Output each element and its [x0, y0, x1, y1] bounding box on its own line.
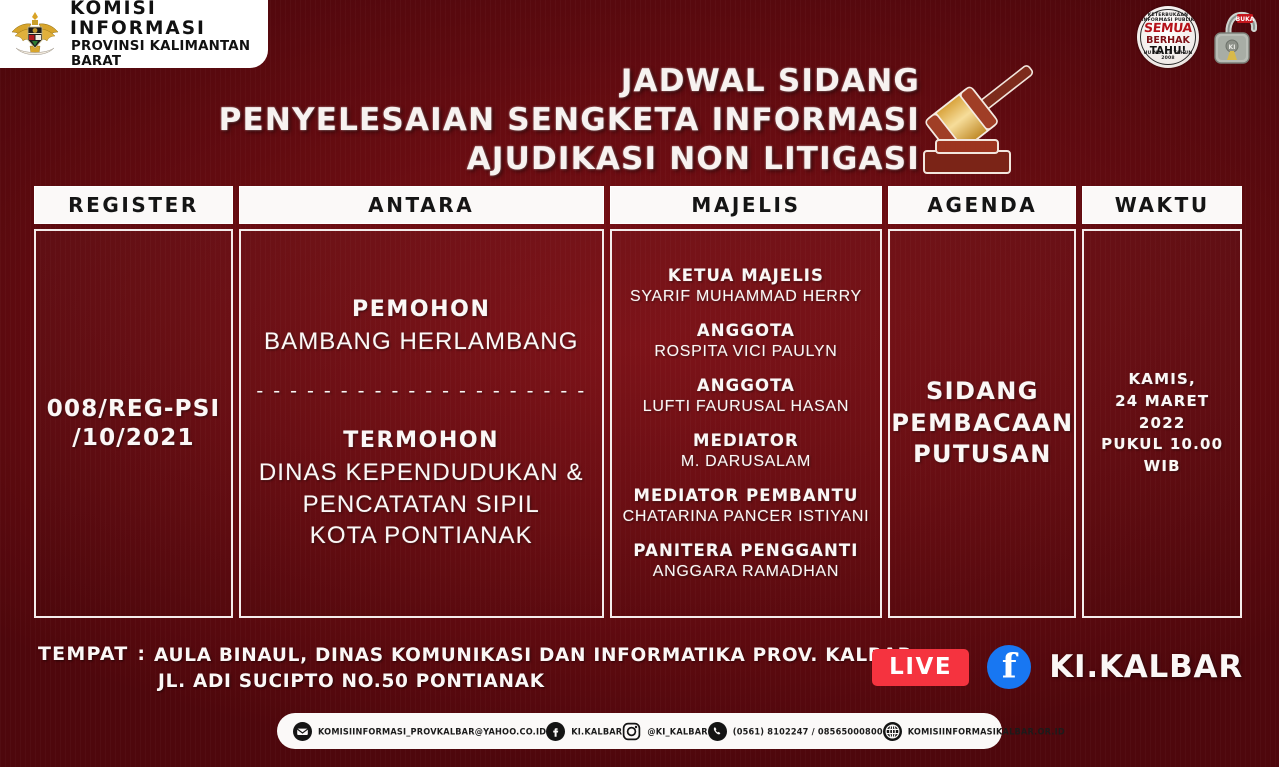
header-majelis: MAJELIS	[610, 186, 883, 224]
phone-icon	[708, 722, 727, 741]
header-register: REGISTER	[34, 186, 233, 224]
majelis-name: M. DARUSALAM	[618, 452, 875, 471]
badge-word-semua: SEMUA	[1137, 22, 1199, 35]
venue-row: TEMPAT : AULA BINAUL, DINAS KOMUNIKASI D…	[38, 643, 913, 696]
waktu-line-1: KAMIS,	[1090, 369, 1234, 391]
column-register: REGISTER 008/REG-PSI /10/2021	[34, 186, 233, 618]
contact-instagram[interactable]: @KI_KALBAR	[622, 722, 707, 741]
header-agenda: AGENDA	[888, 186, 1076, 224]
agenda-value: SIDANG PEMBACAAN PUTUSAN	[891, 376, 1073, 471]
header-waktu: WAKTU	[1082, 186, 1242, 224]
badge-word-berhak: BERHAK	[1137, 36, 1199, 46]
live-stream-group: LIVE f KI.KALBAR	[872, 645, 1243, 689]
live-badge: LIVE	[872, 649, 969, 686]
cell-agenda: SIDANG PEMBACAAN PUTUSAN	[888, 229, 1076, 618]
majelis-entry: MEDIATOR PEMBANTU CHATARINA PANCER ISTIY…	[618, 486, 875, 526]
facebook-glyph: f	[987, 649, 1031, 683]
register-value: 008/REG-PSI /10/2021	[47, 395, 220, 453]
agenda-line-3: PUTUSAN	[891, 439, 1073, 471]
venue-colon: :	[137, 643, 145, 665]
brand-logo-text: KOMISI INFORMASI PROVINSI KALIMANTAN BAR…	[70, 0, 268, 69]
venue-label: TEMPAT	[38, 643, 128, 665]
majelis-role: ANGGOTA	[618, 321, 875, 341]
title-line-3: AJUDIKASI NON LITIGASI	[180, 140, 920, 179]
svg-text:KI: KI	[1229, 44, 1236, 51]
termohon-name-line-2: PENCATATAN SIPIL	[256, 490, 586, 520]
facebook-icon	[546, 722, 565, 741]
antara-value: PEMOHON BAMBANG HERLAMBANG - - - - - - -…	[256, 296, 586, 551]
waktu-line-3: PUKUL 10.00 WIB	[1090, 434, 1234, 478]
facebook-handle[interactable]: KI.KALBAR	[1049, 649, 1243, 685]
contact-instagram-text: @KI_KALBAR	[647, 725, 707, 736]
globe-icon	[883, 722, 902, 741]
venue-address: AULA BINAUL, DINAS KOMUNIKASI DAN INFORM…	[154, 643, 913, 696]
column-waktu: WAKTU KAMIS, 24 MARET 2022 PUKUL 10.00 W…	[1082, 186, 1242, 618]
poster-canvas: KOMISI INFORMASI PROVINSI KALIMANTAN BAR…	[0, 0, 1279, 767]
majelis-name: ROSPITA VICI PAULYN	[618, 342, 875, 361]
contact-website-text: KOMISIINFORMASIKALBAR.OR.ID	[908, 725, 1065, 736]
party-divider: - - - - - - - - - - - - - - - - - - - -	[256, 382, 586, 401]
cell-register: 008/REG-PSI /10/2021	[34, 229, 233, 618]
brand-logo-plate: KOMISI INFORMASI PROVINSI KALIMANTAN BAR…	[0, 0, 268, 68]
termohon-label: TERMOHON	[256, 427, 586, 456]
svg-text:BUKA: BUKA	[1236, 16, 1255, 23]
majelis-entry: KETUA MAJELIS SYARIF MUHAMMAD HERRY	[618, 266, 875, 306]
column-antara: ANTARA PEMOHON BAMBANG HERLAMBANG - - - …	[239, 186, 604, 618]
contact-email[interactable]: KOMISIINFORMASI_PROVKALBAR@YAHOO.CO.ID	[293, 722, 546, 741]
majelis-role: MEDIATOR	[618, 431, 875, 451]
contact-bar: KOMISIINFORMASI_PROVKALBAR@YAHOO.CO.ID K…	[277, 713, 1002, 749]
agenda-line-2: PEMBACAAN	[891, 408, 1073, 440]
majelis-role: ANGGOTA	[618, 376, 875, 396]
majelis-role: PANITERA PENGGANTI	[618, 541, 875, 561]
garuda-emblem-icon	[8, 8, 62, 60]
agenda-line-1: SIDANG	[891, 376, 1073, 408]
facebook-icon[interactable]: f	[987, 645, 1031, 689]
venue-address-line-1: AULA BINAUL, DINAS KOMUNIKASI DAN INFORM…	[154, 643, 913, 669]
poster-title: JADWAL SIDANG PENYELESAIAN SENGKETA INFO…	[180, 62, 920, 179]
majelis-list: KETUA MAJELIS SYARIF MUHAMMAD HERRY ANGG…	[618, 266, 875, 581]
gavel-icon	[918, 55, 1068, 180]
contact-phone[interactable]: (0561) 8102247 / 08565000800	[708, 722, 883, 741]
venue-address-line-2: JL. ADI SUCIPTO NO.50 PONTIANAK	[154, 669, 913, 695]
majelis-name: LUFTI FAURUSAL HASAN	[618, 397, 875, 416]
waktu-line-2: 24 MARET 2022	[1090, 391, 1234, 435]
envelope-icon	[293, 722, 312, 741]
cell-antara: PEMOHON BAMBANG HERLAMBANG - - - - - - -…	[239, 229, 604, 618]
contact-phone-text: (0561) 8102247 / 08565000800	[733, 725, 883, 736]
brand-line-1: KOMISI INFORMASI	[70, 0, 268, 38]
instagram-icon	[622, 722, 641, 741]
open-padlock-icon: KI BUKA	[1209, 6, 1265, 68]
majelis-entry: MEDIATOR M. DARUSALAM	[618, 431, 875, 471]
waktu-value: KAMIS, 24 MARET 2022 PUKUL 10.00 WIB	[1090, 369, 1234, 478]
semua-berhak-tahu-badge-icon: KETERBUKAAN INFORMASI PUBLIK SEMUA BERHA…	[1137, 6, 1199, 68]
contact-facebook-text: KI.KALBAR	[571, 725, 622, 736]
column-agenda: AGENDA SIDANG PEMBACAAN PUTUSAN	[888, 186, 1076, 618]
badge-arc-bottom-text: UU NO. 14 TAHUN 2008	[1137, 51, 1199, 61]
pemohon-name: BAMBANG HERLAMBANG	[256, 327, 586, 357]
majelis-entry: ANGGOTA LUFTI FAURUSAL HASAN	[618, 376, 875, 416]
majelis-name: ANGGARA RAMADHAN	[618, 562, 875, 581]
cell-majelis: KETUA MAJELIS SYARIF MUHAMMAD HERRY ANGG…	[610, 229, 883, 618]
termohon-name-line-3: KOTA PONTIANAK	[256, 521, 586, 551]
title-line-1: JADWAL SIDANG	[180, 62, 920, 101]
venue-block: TEMPAT : AULA BINAUL, DINAS KOMUNIKASI D…	[38, 643, 913, 696]
majelis-entry: ANGGOTA ROSPITA VICI PAULYN	[618, 321, 875, 361]
termohon-name-line-1: DINAS KEPENDUDUKAN &	[256, 458, 586, 488]
majelis-role: MEDIATOR PEMBANTU	[618, 486, 875, 506]
contact-website[interactable]: KOMISIINFORMASIKALBAR.OR.ID	[883, 722, 1065, 741]
schedule-table: REGISTER 008/REG-PSI /10/2021 ANTARA PEM…	[34, 186, 1242, 618]
register-line-1: 008/REG-PSI	[47, 395, 220, 424]
contact-facebook[interactable]: KI.KALBAR	[546, 722, 622, 741]
contact-email-text: KOMISIINFORMASI_PROVKALBAR@YAHOO.CO.ID	[318, 725, 546, 736]
header-badges: KETERBUKAAN INFORMASI PUBLIK SEMUA BERHA…	[1137, 6, 1265, 68]
pemohon-label: PEMOHON	[256, 296, 586, 325]
header-antara: ANTARA	[239, 186, 604, 224]
column-majelis: MAJELIS KETUA MAJELIS SYARIF MUHAMMAD HE…	[610, 186, 883, 618]
title-line-2: PENYELESAIAN SENGKETA INFORMASI	[180, 101, 920, 140]
majelis-name: CHATARINA PANCER ISTIYANI	[618, 507, 875, 526]
majelis-name: SYARIF MUHAMMAD HERRY	[618, 287, 875, 306]
majelis-entry: PANITERA PENGGANTI ANGGARA RAMADHAN	[618, 541, 875, 581]
register-line-2: /10/2021	[47, 424, 220, 453]
cell-waktu: KAMIS, 24 MARET 2022 PUKUL 10.00 WIB	[1082, 229, 1242, 618]
majelis-role: KETUA MAJELIS	[618, 266, 875, 286]
